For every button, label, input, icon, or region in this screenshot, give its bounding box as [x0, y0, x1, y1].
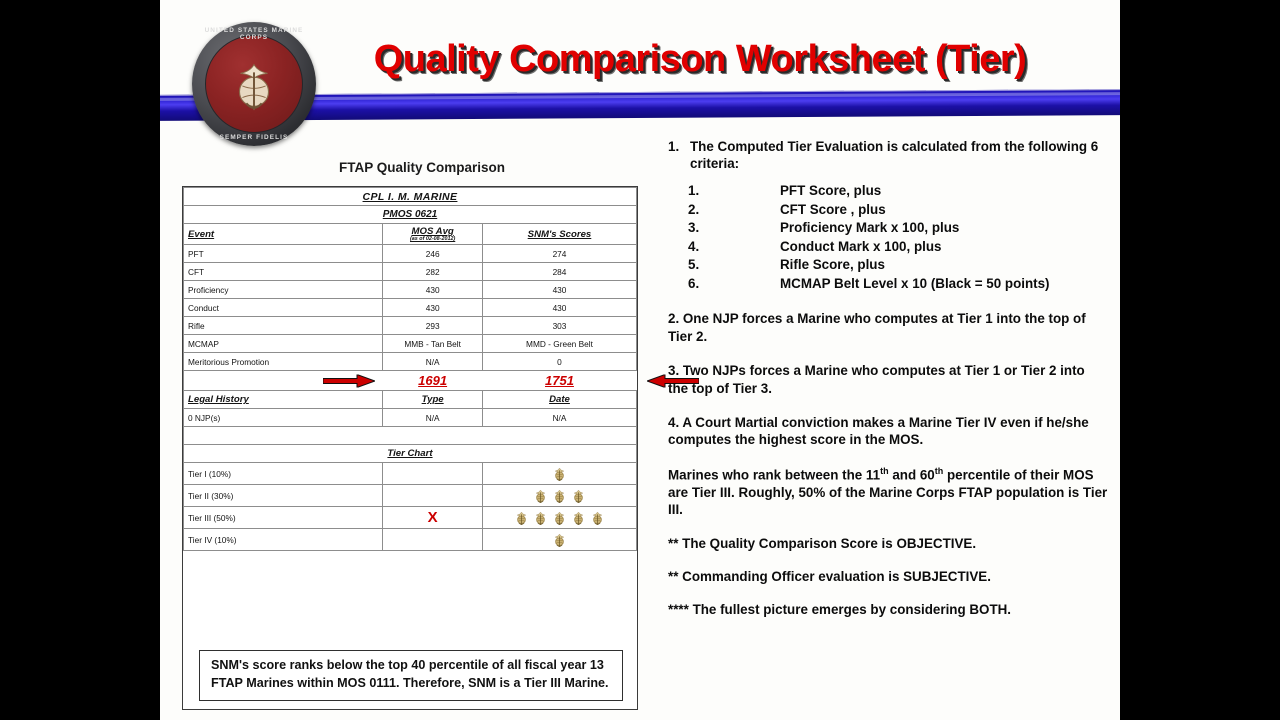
tier-mark-x: X [428, 509, 438, 526]
total-mos-avg: 1691 [418, 373, 447, 388]
cell-mos-avg: 282 [383, 263, 483, 281]
worksheet-table: CPL I. M. MARINE PMOS 0621 Event MOS Avg… [183, 187, 637, 551]
list-item-number: 5. [688, 256, 699, 275]
ega-emblem-icon [532, 509, 549, 526]
page-title: Quality Comparison Worksheet (Tier) [320, 38, 1080, 81]
percentile-text-b: and 60 [889, 467, 935, 482]
video-frame: Quality Comparison Worksheet (Tier) UNIT… [0, 0, 1280, 720]
cell-event: CFT [184, 263, 383, 281]
rule-njp-one: 2. One NJP forces a Marine who computes … [668, 310, 1108, 345]
table-row-pmos: PMOS 0621 [184, 206, 637, 224]
letterbox-right [1120, 0, 1280, 720]
rule-court-martial: 4. A Court Martial conviction makes a Ma… [668, 414, 1108, 449]
list-item: 4. Conduct Mark x 100, plus [780, 238, 1108, 257]
cell-mos-avg: 293 [383, 317, 483, 335]
table-header-row: Event MOS Avg (as of 02-08-2012) SNM's S… [184, 224, 637, 245]
list-item-label: Conduct Mark x 100, plus [780, 239, 941, 254]
percentile-paragraph: Marines who rank between the 11th and 60… [668, 466, 1108, 519]
cell-event: MCMAP [184, 335, 383, 353]
tier-label: Tier I (10%) [184, 463, 383, 485]
tier-ega-group [482, 507, 636, 529]
list-item-label: MCMAP Belt Level x 10 (Black = 50 points… [780, 276, 1050, 291]
explanation-panel: 1. The Computed Tier Evaluation is calcu… [668, 138, 1108, 619]
cell-snm: 430 [482, 281, 636, 299]
legal-type-header: Type [422, 394, 444, 405]
legal-type-value: N/A [383, 409, 483, 427]
ega-emblem-icon [570, 509, 587, 526]
tier-label: Tier II (30%) [184, 485, 383, 507]
ega-emblem-icon [532, 487, 549, 504]
legal-date-header: Date [549, 394, 570, 405]
list-item: 1. PFT Score, plus [780, 182, 1108, 201]
percentile-sup-1: th [880, 466, 889, 476]
total-snm: 1751 [545, 373, 574, 388]
list-item-label: CFT Score , plus [780, 202, 886, 217]
list-item-number: 6. [688, 275, 699, 294]
usmc-seal-icon: UNITED STATES MARINE CORPS SEMPER FIDELI… [192, 22, 316, 146]
list-item: 3. Proficiency Mark x 100, plus [780, 219, 1108, 238]
tier-label: Tier IV (10%) [184, 529, 383, 551]
tier-ega-group [482, 529, 636, 551]
ega-emblem-icon [551, 487, 568, 504]
list-item-number: 3. [688, 219, 699, 238]
tier-ega-group [482, 485, 636, 507]
ega-emblem-icon [551, 509, 568, 526]
cell-mos-avg: 430 [383, 281, 483, 299]
list-item-label: PFT Score, plus [780, 183, 881, 198]
summary-note-box: SNM's score ranks below the top 40 perce… [199, 650, 623, 701]
table-row: Conduct 430 430 [184, 299, 637, 317]
table-row: MCMAP MMB - Tan Belt MMD - Green Belt [184, 335, 637, 353]
criteria-intro-text: The Computed Tier Evaluation is calculat… [690, 139, 1098, 171]
marine-name: CPL I. M. MARINE [363, 191, 458, 203]
table-row-totals: 1691 1751 [184, 371, 637, 391]
seal-text-top: UNITED STATES MARINE CORPS [192, 27, 316, 41]
list-item: 2. CFT Score , plus [780, 201, 1108, 220]
note-objective: ** The Quality Comparison Score is OBJEC… [668, 535, 1108, 552]
tier-chart-title: Tier Chart [387, 448, 432, 459]
note-subjective: ** Commanding Officer evaluation is SUBJ… [668, 568, 1108, 585]
legal-header-row: Legal History Type Date [184, 391, 637, 409]
cell-event: Conduct [184, 299, 383, 317]
criteria-intro: 1. The Computed Tier Evaluation is calcu… [668, 138, 1108, 172]
table-row: Proficiency 430 430 [184, 281, 637, 299]
cell-snm: MMD - Green Belt [482, 335, 636, 353]
cell-event: Meritorious Promotion [184, 353, 383, 371]
tier-chart-title-row: Tier Chart [184, 445, 637, 463]
spacer-row [184, 427, 637, 445]
table-row: PFT 246 274 [184, 245, 637, 263]
ega-emblem-icon [551, 465, 568, 482]
table-row-name: CPL I. M. MARINE [184, 188, 637, 206]
legal-history-header: Legal History [188, 394, 249, 405]
list-item-label: Rifle Score, plus [780, 257, 885, 272]
criteria-list: 1. PFT Score, plus 2. CFT Score , plus 3… [668, 182, 1108, 293]
letterbox-left [0, 0, 160, 720]
list-item: 5. Rifle Score, plus [780, 256, 1108, 275]
ega-emblem-icon [570, 487, 587, 504]
percentile-text-a: Marines who rank between the 11 [668, 467, 880, 482]
cell-mos-avg: 430 [383, 299, 483, 317]
eagle-globe-anchor-icon [223, 53, 285, 115]
list-item-number: 4. [688, 238, 699, 257]
legal-row: 0 NJP(s) N/A N/A [184, 409, 637, 427]
cell-snm: 0 [482, 353, 636, 371]
list-item-number: 2. [688, 201, 699, 220]
rule-njp-two: 3. Two NJPs forces a Marine who computes… [668, 362, 1108, 397]
table-row: Meritorious Promotion N/A 0 [184, 353, 637, 371]
legal-date-value: N/A [482, 409, 636, 427]
cell-event: Rifle [184, 317, 383, 335]
cell-snm: 430 [482, 299, 636, 317]
percentile-sup-2: th [935, 466, 944, 476]
pmos-value: PMOS 0621 [383, 209, 437, 220]
cell-mos-avg: MMB - Tan Belt [383, 335, 483, 353]
tier-row: Tier I (10%) [184, 463, 637, 485]
quality-comparison-worksheet: CPL I. M. MARINE PMOS 0621 Event MOS Avg… [182, 186, 638, 710]
list-item-number: 1. [688, 182, 699, 201]
cell-snm: 303 [482, 317, 636, 335]
table-row: CFT 282 284 [184, 263, 637, 281]
legal-njp-count: 0 NJP(s) [184, 409, 383, 427]
cell-mos-avg: N/A [383, 353, 483, 371]
ega-emblem-icon [513, 509, 530, 526]
cell-mos-avg: 246 [383, 245, 483, 263]
col-header-snm: SNM's Scores [528, 229, 592, 240]
list-item-label: Proficiency Mark x 100, plus [780, 220, 959, 235]
cell-snm: 274 [482, 245, 636, 263]
criteria-intro-number: 1. [668, 138, 679, 155]
col-header-mos-avg-date: (as of 02-08-2012) [387, 236, 478, 242]
ega-emblem-icon [589, 509, 606, 526]
tier-row: Tier II (30%) [184, 485, 637, 507]
table-row: Rifle 293 303 [184, 317, 637, 335]
col-header-event: Event [188, 229, 214, 240]
cell-event: Proficiency [184, 281, 383, 299]
list-item: 6. MCMAP Belt Level x 10 (Black = 50 poi… [780, 275, 1108, 294]
slide-canvas: Quality Comparison Worksheet (Tier) UNIT… [160, 0, 1120, 720]
seal-text-bottom: SEMPER FIDELIS [192, 134, 316, 141]
tier-label: Tier III (50%) [184, 507, 383, 529]
worksheet-caption: FTAP Quality Comparison [182, 160, 662, 175]
tier-row: Tier IV (10%) [184, 529, 637, 551]
cell-snm: 284 [482, 263, 636, 281]
tier-row-selected: Tier III (50%) X [184, 507, 637, 529]
tier-ega-group [482, 463, 636, 485]
note-both: **** The fullest picture emerges by cons… [668, 601, 1108, 618]
ega-emblem-icon [551, 531, 568, 548]
arrow-right-icon [323, 374, 375, 387]
cell-event: PFT [184, 245, 383, 263]
